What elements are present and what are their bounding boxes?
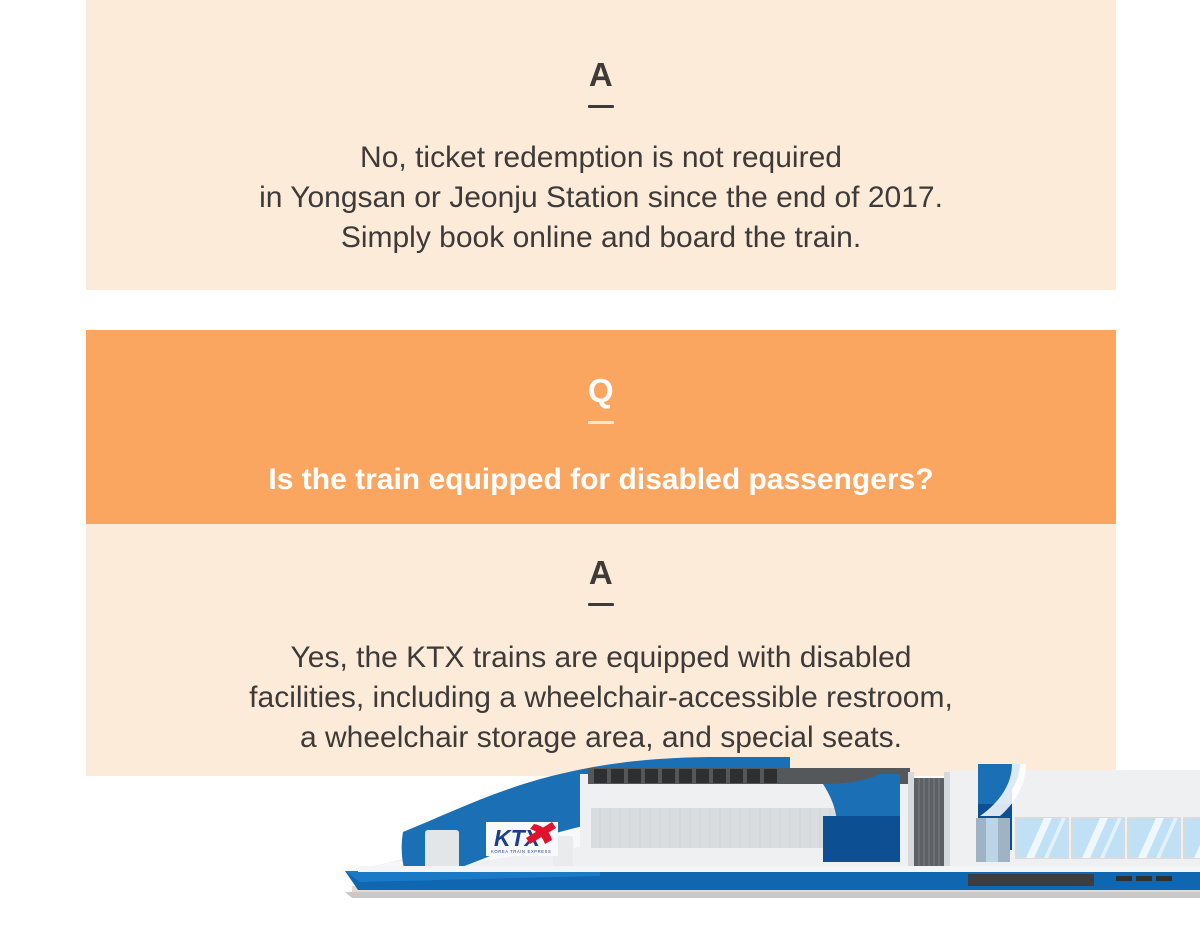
question-panel: Q Is the train equipped for disabled pas… xyxy=(86,330,1116,524)
train-power-car-blue-end xyxy=(823,774,913,862)
train-lower-body-band xyxy=(358,866,1200,872)
train-mid-car xyxy=(580,768,913,882)
train-windows xyxy=(1016,818,1200,858)
answer-text-top-group: No, ticket redemption is not required in… xyxy=(86,138,1116,258)
train-window xyxy=(1128,818,1180,858)
train-window xyxy=(1072,818,1124,858)
answer-text-top-line-1: No, ticket redemption is not required xyxy=(126,138,1076,178)
answer-marker-bottom-group: A xyxy=(86,556,1116,606)
answer-text-top-line-3: Simply book online and board the train. xyxy=(126,218,1076,258)
train-window xyxy=(1184,818,1200,858)
answer-marker-rule-top xyxy=(588,105,614,108)
answer-text-bottom-line-2: facilities, including a wheelchair-acces… xyxy=(126,678,1076,718)
answer-panel-top: A No, ticket redemption is not required … xyxy=(86,0,1116,290)
ktx-logo: KTX KOREA TRAIN EXPRESS xyxy=(486,822,558,856)
question-text-group: Is the train equipped for disabled passe… xyxy=(86,460,1116,500)
answer-marker-bottom: A xyxy=(86,556,1116,589)
ktx-train-illustration: KTX KOREA TRAIN EXPRESS xyxy=(0,740,1200,940)
answer-text-top-line-2: in Yongsan or Jeonju Station since the e… xyxy=(126,178,1076,218)
answer-marker-top-group: A xyxy=(86,58,1116,108)
train-door xyxy=(976,818,1010,862)
answer-text-bottom-line-1: Yes, the KTX trains are equipped with di… xyxy=(126,638,1076,678)
train-passenger-car xyxy=(950,764,1200,882)
answer-text-top: No, ticket redemption is not required in… xyxy=(86,138,1116,258)
answer-marker-top: A xyxy=(86,58,1116,91)
answer-panel-bottom: A Yes, the KTX trains are equipped with … xyxy=(86,524,1116,776)
question-text: Is the train equipped for disabled passe… xyxy=(86,460,1116,500)
question-marker: Q xyxy=(86,374,1116,407)
question-marker-group: Q xyxy=(86,374,1116,424)
answer-marker-rule-bottom xyxy=(588,603,614,606)
train-underbody-vents xyxy=(1116,876,1172,881)
question-marker-rule xyxy=(588,421,614,424)
train-blue-skirt xyxy=(345,871,1200,890)
train-underbody-box xyxy=(968,874,1094,886)
train-roof-vents xyxy=(594,769,777,783)
ktx-logo-tagline: KOREA TRAIN EXPRESS xyxy=(491,849,551,854)
train-window xyxy=(1016,818,1068,858)
infographic-canvas: A No, ticket redemption is not required … xyxy=(0,0,1200,940)
